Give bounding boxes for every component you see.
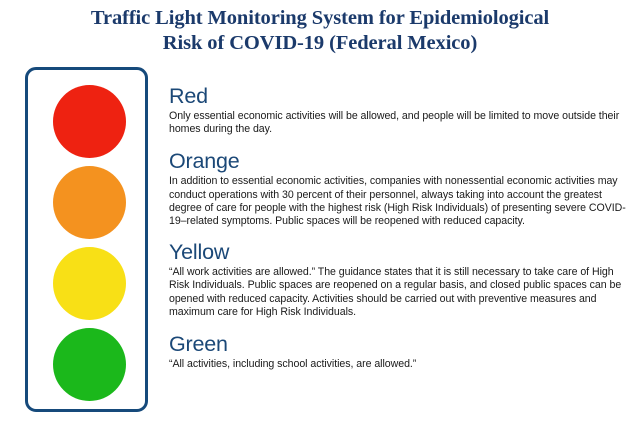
traffic-light-housing (25, 67, 148, 412)
red-lamp-icon (53, 85, 126, 158)
yellow-lamp-icon (53, 247, 126, 320)
page-title-line-1: Traffic Light Monitoring System for Epid… (0, 6, 640, 31)
level-heading-orange: Orange (169, 149, 631, 174)
level-heading-green: Green (169, 332, 631, 357)
infographic-page: Traffic Light Monitoring System for Epid… (0, 0, 640, 429)
level-heading-yellow: Yellow (169, 240, 631, 265)
page-title: Traffic Light Monitoring System for Epid… (0, 6, 640, 56)
level-item-red: Red Only essential economic activities w… (169, 84, 631, 136)
page-title-line-2: Risk of COVID-19 (Federal Mexico) (0, 31, 640, 56)
level-body-green: “All activities, including school activi… (169, 358, 631, 371)
orange-lamp-icon (53, 166, 126, 239)
green-lamp-icon (53, 328, 126, 401)
level-item-orange: Orange In addition to essential economic… (169, 149, 631, 228)
level-body-yellow: “All work activities are allowed.” The g… (169, 266, 631, 319)
level-item-yellow: Yellow “All work activities are allowed.… (169, 240, 631, 319)
level-body-red: Only essential economic activities will … (169, 110, 631, 136)
level-heading-red: Red (169, 84, 631, 109)
level-item-green: Green “All activities, including school … (169, 332, 631, 371)
traffic-light-lamp-stack (28, 70, 151, 415)
levels-list: Red Only essential economic activities w… (169, 84, 631, 371)
level-body-orange: In addition to essential economic activi… (169, 175, 631, 228)
